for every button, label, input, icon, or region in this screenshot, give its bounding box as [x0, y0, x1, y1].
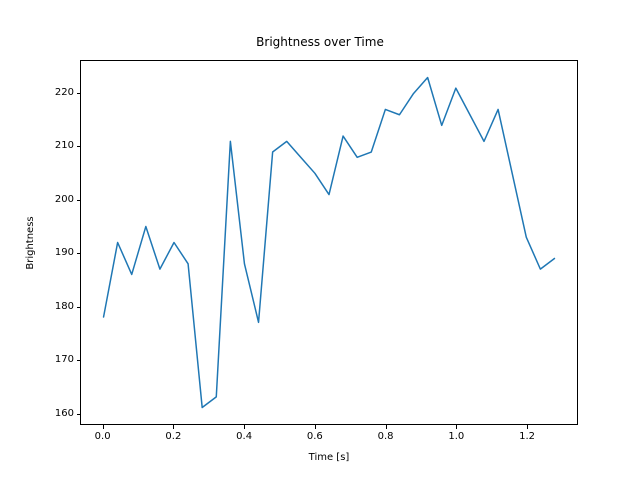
data-line-svg [81, 61, 577, 424]
x-tick-mark [103, 425, 104, 429]
x-tick-mark [315, 425, 316, 429]
y-tick-mark [77, 307, 81, 308]
y-tick-label: 200 [32, 195, 74, 205]
brightness-line-series [104, 77, 555, 407]
x-axis-label: Time [s] [80, 453, 578, 463]
x-tick-label: 0.4 [236, 432, 252, 442]
y-tick-label: 190 [32, 248, 74, 258]
y-tick-label: 160 [32, 409, 74, 419]
figure-canvas: Brightness over Time 1601701801902002102… [0, 0, 640, 480]
y-tick-mark [77, 146, 81, 147]
x-tick-label: 0.6 [307, 432, 323, 442]
y-tick-mark [77, 360, 81, 361]
y-tick-mark [77, 200, 81, 201]
chart-title: Brightness over Time [0, 36, 640, 48]
x-tick-mark [244, 425, 245, 429]
x-tick-mark [456, 425, 457, 429]
y-tick-mark [77, 253, 81, 254]
y-tick-mark [77, 93, 81, 94]
y-tick-label: 220 [32, 88, 74, 98]
y-tick-mark [77, 414, 81, 415]
y-axis-label: Brightness [26, 216, 36, 269]
x-tick-mark [386, 425, 387, 429]
x-tick-label: 0.8 [378, 432, 394, 442]
x-tick-mark [173, 425, 174, 429]
y-tick-label: 210 [32, 141, 74, 151]
x-tick-mark [527, 425, 528, 429]
x-tick-label: 0.2 [165, 432, 181, 442]
y-tick-label: 180 [32, 302, 74, 312]
x-tick-label: 0.0 [95, 432, 111, 442]
x-tick-label: 1.0 [448, 432, 464, 442]
y-tick-label: 170 [32, 355, 74, 365]
x-tick-label: 1.2 [519, 432, 535, 442]
plot-area [80, 60, 578, 425]
